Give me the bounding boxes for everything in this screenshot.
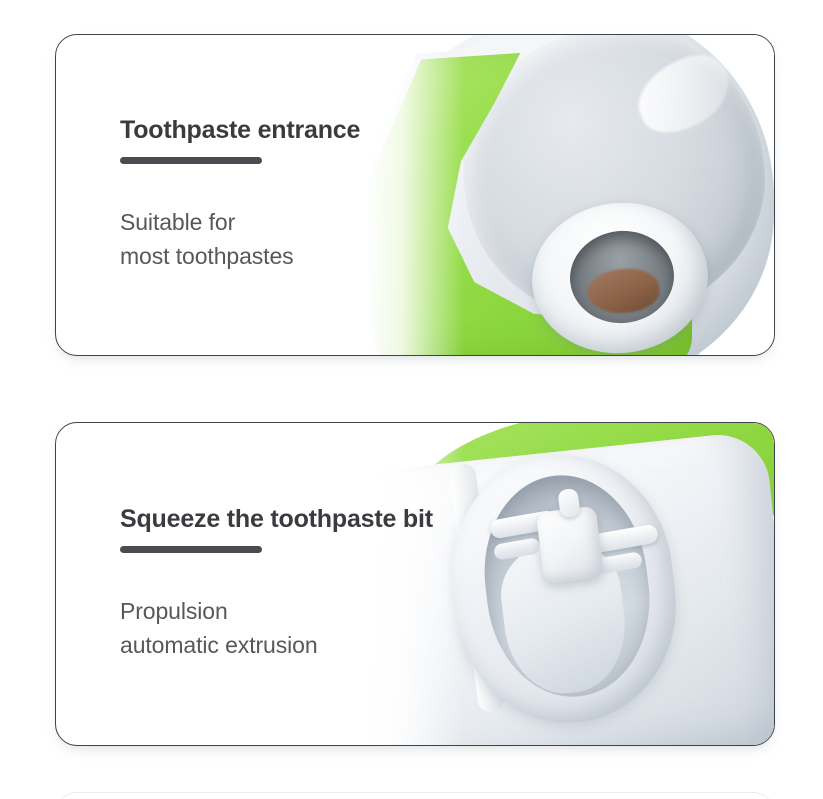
body-line: Propulsion — [120, 595, 456, 628]
card-heading: Squeeze the toothpaste bit — [120, 506, 456, 534]
feature-card-next-sliver[interactable] — [55, 792, 775, 799]
card-inner: Toothpaste entrance Suitable for most to… — [56, 35, 774, 355]
heading-underline-rule — [120, 546, 262, 553]
feature-card-squeeze-toothpaste-bit[interactable]: Squeeze the toothpaste bit Propulsion au… — [55, 422, 775, 746]
card-text-block: Toothpaste entrance Suitable for most to… — [56, 35, 456, 355]
toothpaste-residue — [585, 265, 661, 316]
card-body-text: Propulsion automatic extrusion — [120, 595, 456, 662]
card-heading: Toothpaste entrance — [120, 117, 456, 145]
body-line: most toothpastes — [120, 240, 456, 273]
card-text-block: Squeeze the toothpaste bit Propulsion au… — [56, 423, 456, 745]
heading-underline-rule — [120, 157, 262, 164]
card-inner: Squeeze the toothpaste bit Propulsion au… — [56, 423, 774, 745]
body-line: Suitable for — [120, 206, 456, 239]
card-inner — [56, 793, 774, 799]
squeeze-plunger — [536, 506, 604, 585]
plunger-knob — [557, 488, 580, 518]
product-feature-page: Toothpaste entrance Suitable for most to… — [0, 0, 823, 799]
feature-card-toothpaste-entrance[interactable]: Toothpaste entrance Suitable for most to… — [55, 34, 775, 356]
body-line: automatic extrusion — [120, 629, 456, 662]
card-body-text: Suitable for most toothpastes — [120, 206, 456, 273]
